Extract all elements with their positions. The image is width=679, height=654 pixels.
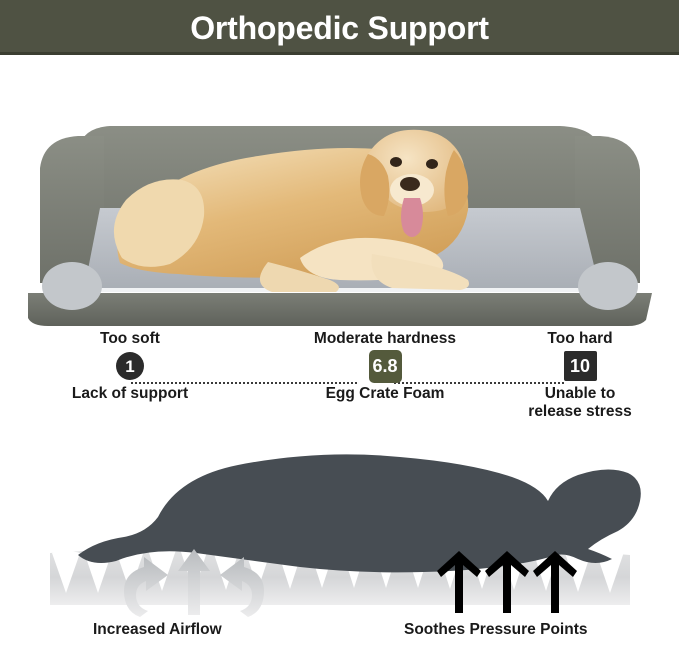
scale-stop-top-label: Too soft [40, 330, 220, 347]
dog-eye-left [390, 157, 402, 167]
scale-badge-wrap: 1 [40, 347, 220, 385]
scale-badge-value-10: 10 [564, 351, 597, 381]
scale-stop-moderate: Moderate hardness 6.8 Egg Crate Foam [295, 330, 475, 403]
bed-corner-pad-left [42, 262, 102, 310]
scale-stop-too-soft: Too soft 1 Lack of support [40, 330, 220, 403]
dog-eye-right [426, 159, 438, 169]
header-banner: Orthopedic Support [0, 0, 679, 55]
bed-corner-pad-right [578, 262, 638, 310]
scale-stop-bottom-label: Lack of support [40, 385, 220, 403]
foam-diagram: Increased Airflow Soothes Pressure Point… [0, 425, 679, 654]
page-title: Orthopedic Support [190, 12, 489, 44]
scale-badge-value-68: 6.8 [369, 350, 402, 383]
airflow-label: Increased Airflow [93, 621, 222, 639]
scale-stop-bottom-label: Egg Crate Foam [295, 385, 475, 403]
scale-badge-value-1: 1 [116, 352, 144, 380]
scale-badge-wrap: 6.8 [295, 347, 475, 385]
pressure-arrows [437, 551, 577, 613]
foam-cross-section-illustration [0, 425, 679, 625]
bed-front-base [28, 293, 652, 326]
product-photo [0, 58, 679, 328]
scale-stop-top-label: Moderate hardness [295, 330, 475, 347]
dog-bed-photo-illustration [0, 58, 679, 328]
dog-tongue [401, 198, 423, 237]
dog-nose [400, 177, 420, 191]
pressure-points-label: Soothes Pressure Points [404, 621, 587, 639]
scale-stop-top-label: Too hard [490, 330, 670, 347]
scale-stop-bottom-label-line1: Unable to [490, 385, 670, 403]
scale-stop-too-hard: Too hard 10 Unable to release stress [490, 330, 670, 421]
hardness-scale: Too soft 1 Lack of support Moderate hard… [0, 330, 679, 425]
scale-badge-wrap: 10 [490, 347, 670, 385]
scale-stop-bottom-label-line2: release stress [490, 403, 670, 421]
